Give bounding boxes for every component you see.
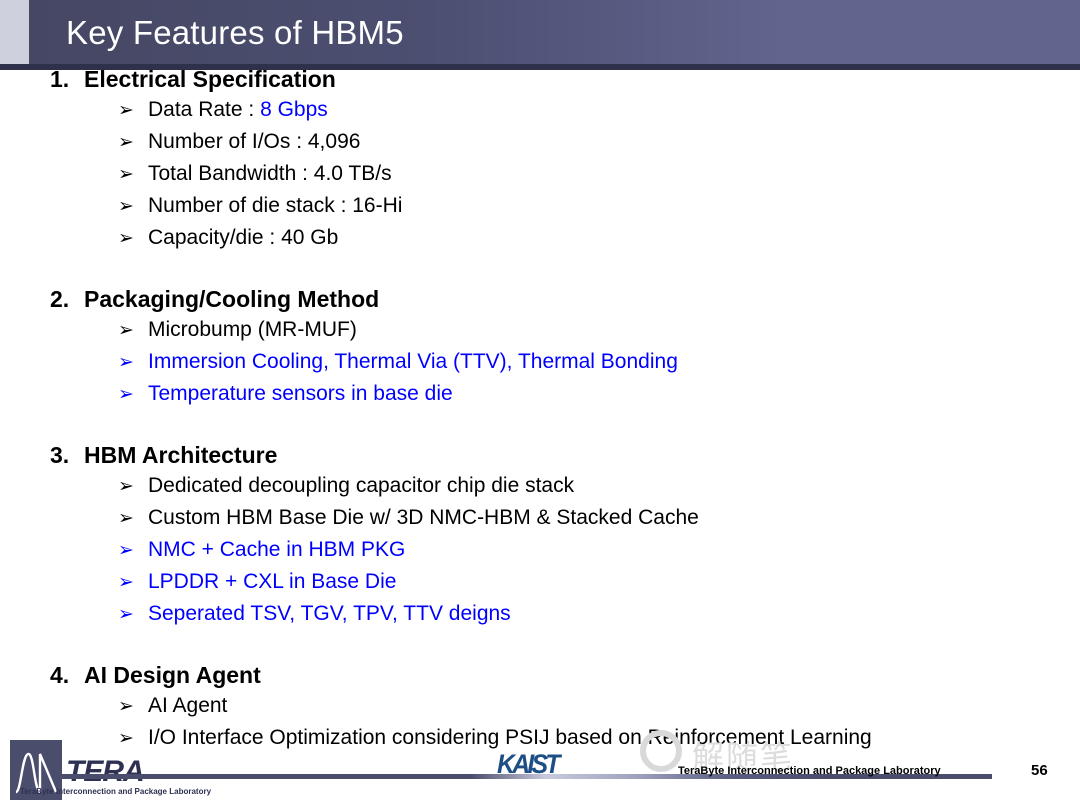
list-item-label: Custom HBM Base Die w/ 3D NMC-HBM & Stac…: [148, 502, 699, 534]
list-item-label: NMC + Cache in HBM PKG: [148, 534, 405, 566]
list-item: ➢ Capacity/die : 40 Gb: [0, 222, 1080, 254]
arrow-bullet-icon: ➢: [118, 315, 148, 347]
arrow-bullet-icon: ➢: [118, 471, 148, 503]
list-item: ➢ Custom HBM Base Die w/ 3D NMC-HBM & St…: [0, 502, 1080, 534]
arrow-bullet-icon: ➢: [118, 379, 148, 411]
arrow-bullet-icon: ➢: [118, 223, 148, 255]
arrow-bullet-icon: ➢: [118, 503, 148, 535]
tera-wordmark: TERA: [66, 755, 144, 789]
section-heading: 3. HBM Architecture: [0, 440, 1080, 470]
arrow-bullet-icon: ➢: [118, 567, 148, 599]
list-item-label: LPDDR + CXL in Base Die: [148, 566, 396, 598]
section-number: 3.: [50, 440, 84, 470]
arrow-bullet-icon: ➢: [118, 95, 148, 127]
footer-lab-name: TeraByte Interconnection and Package Lab…: [678, 765, 941, 777]
list-item: ➢ Number of I/Os : 4,096: [0, 126, 1080, 158]
slide-footer: TERA TeraByte Interconnection and Packag…: [0, 735, 1080, 809]
section-number: 2.: [50, 284, 84, 314]
arrow-bullet-icon: ➢: [118, 191, 148, 223]
section-heading: 1. Electrical Specification: [0, 64, 1080, 94]
list-item-label: AI Agent: [148, 690, 227, 722]
section-number: 4.: [50, 660, 84, 690]
section-title: HBM Architecture: [84, 440, 277, 470]
list-item-label: Number of die stack : 16-Hi: [148, 190, 402, 222]
section-electrical-specification: 1. Electrical Specification ➢ Data Rate …: [0, 64, 1080, 254]
list-item-label: Dedicated decoupling capacitor chip die …: [148, 470, 574, 502]
slide-body: 1. Electrical Specification ➢ Data Rate …: [0, 64, 1080, 754]
arrow-bullet-icon: ➢: [118, 127, 148, 159]
section-packaging-cooling-method: 2. Packaging/Cooling Method ➢ Microbump …: [0, 284, 1080, 410]
arrow-bullet-icon: ➢: [118, 599, 148, 631]
page-title: Key Features of HBM5: [66, 14, 404, 52]
section-title: AI Design Agent: [84, 660, 261, 690]
list-item: ➢ Seperated TSV, TGV, TPV, TTV deigns: [0, 598, 1080, 630]
list-item: ➢ AI Agent: [0, 690, 1080, 722]
list-item: ➢ Immersion Cooling, Thermal Via (TTV), …: [0, 346, 1080, 378]
list-item: ➢ Data Rate : 8 Gbps: [0, 94, 1080, 126]
list-item-label: Number of I/Os : 4,096: [148, 126, 360, 158]
section-title: Electrical Specification: [84, 64, 336, 94]
section-heading: 2. Packaging/Cooling Method: [0, 284, 1080, 314]
list-item-label: Microbump (MR-MUF): [148, 314, 357, 346]
list-item-label: Capacity/die : 40 Gb: [148, 222, 338, 254]
list-item-label: Immersion Cooling, Thermal Via (TTV), Th…: [148, 346, 678, 378]
section-spacer: [0, 630, 1080, 660]
section-heading: 4. AI Design Agent: [0, 660, 1080, 690]
page-number: 56: [1031, 762, 1048, 779]
arrow-bullet-icon: ➢: [118, 159, 148, 191]
section-title: Packaging/Cooling Method: [84, 284, 379, 314]
slide-title-bar: Key Features of HBM5: [0, 0, 1080, 70]
list-item-label: Data Rate : 8 Gbps: [148, 94, 328, 126]
arrow-bullet-icon: ➢: [118, 535, 148, 567]
list-item: ➢ Total Bandwidth : 4.0 TB/s: [0, 158, 1080, 190]
list-item-label: Seperated TSV, TGV, TPV, TTV deigns: [148, 598, 511, 630]
arrow-bullet-icon: ➢: [118, 691, 148, 723]
kaist-logo: KAIST: [497, 749, 558, 780]
arrow-bullet-icon: ➢: [118, 347, 148, 379]
list-item: ➢ Dedicated decoupling capacitor chip di…: [0, 470, 1080, 502]
list-item: ➢ Microbump (MR-MUF): [0, 314, 1080, 346]
list-item: ➢ LPDDR + CXL in Base Die: [0, 566, 1080, 598]
list-item: ➢ NMC + Cache in HBM PKG: [0, 534, 1080, 566]
list-item: ➢ Number of die stack : 16-Hi: [0, 190, 1080, 222]
section-hbm-architecture: 3. HBM Architecture ➢ Dedicated decoupli…: [0, 440, 1080, 630]
list-item-label: Temperature sensors in base die: [148, 378, 453, 410]
list-item-label: Total Bandwidth : 4.0 TB/s: [148, 158, 392, 190]
list-item-highlight: 8 Gbps: [260, 98, 328, 121]
section-spacer: [0, 410, 1080, 440]
list-item-text: Data Rate :: [148, 98, 260, 121]
section-spacer: [0, 254, 1080, 284]
title-left-accent-strip: [0, 0, 29, 64]
section-number: 1.: [50, 64, 84, 94]
tera-subtitle: TeraByte Interconnection and Package Lab…: [20, 787, 211, 796]
list-item: ➢ Temperature sensors in base die: [0, 378, 1080, 410]
